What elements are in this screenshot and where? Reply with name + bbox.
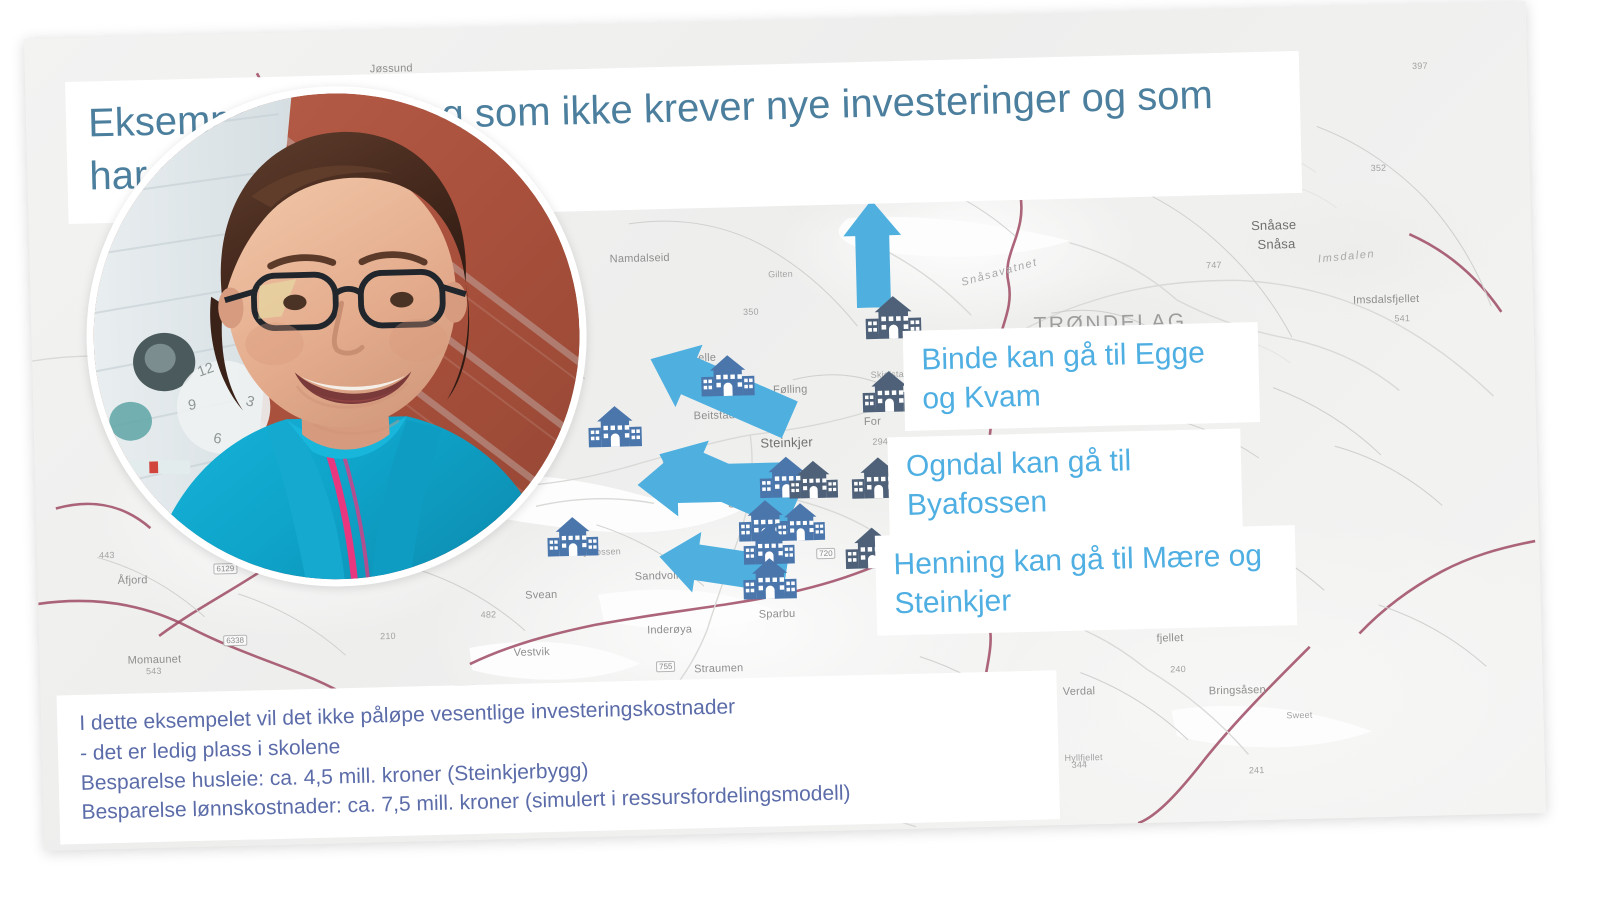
portrait-illustration: 12 3 6 9 <box>88 87 586 585</box>
map-elevation-label: 543 <box>959 831 975 841</box>
map-place-label: Okkenhaug <box>772 837 820 848</box>
map-road-shield: 6338 <box>223 635 247 647</box>
map-road-shield: 720 <box>816 548 836 559</box>
map-road-shield: 755 <box>656 661 676 672</box>
screenshot-root: .rd { fill:none; stroke:#d9d9d7; stroke-… <box>0 0 1600 900</box>
school-icon <box>585 404 644 451</box>
school-icon <box>740 556 799 603</box>
callout-henning: Henning kan gå til Mære og Steinkjer <box>875 525 1297 636</box>
callout-ogndal-line-2: Byafossen <box>907 478 1229 525</box>
callout-binde-line-2: og Kvam <box>922 371 1246 418</box>
callout-binde-line-1: Binde kan gå til Egge <box>921 332 1245 379</box>
bottom-note-box: I dette eksempelet vil det ikke påløpe v… <box>57 670 1060 845</box>
presentation-slide: .rd { fill:none; stroke:#d9d9d7; stroke-… <box>24 1 1546 851</box>
school-icon <box>545 515 600 560</box>
school-icon <box>698 353 757 400</box>
arrow-binde-up <box>842 199 903 308</box>
school-icon <box>787 459 840 502</box>
callout-ogndal: Ogndal kan gå til Byafossen <box>887 428 1242 537</box>
map-place-label: Langdtjeran <box>487 848 537 850</box>
callout-binde: Binde kan gå til Egge og Kvam <box>903 322 1260 431</box>
